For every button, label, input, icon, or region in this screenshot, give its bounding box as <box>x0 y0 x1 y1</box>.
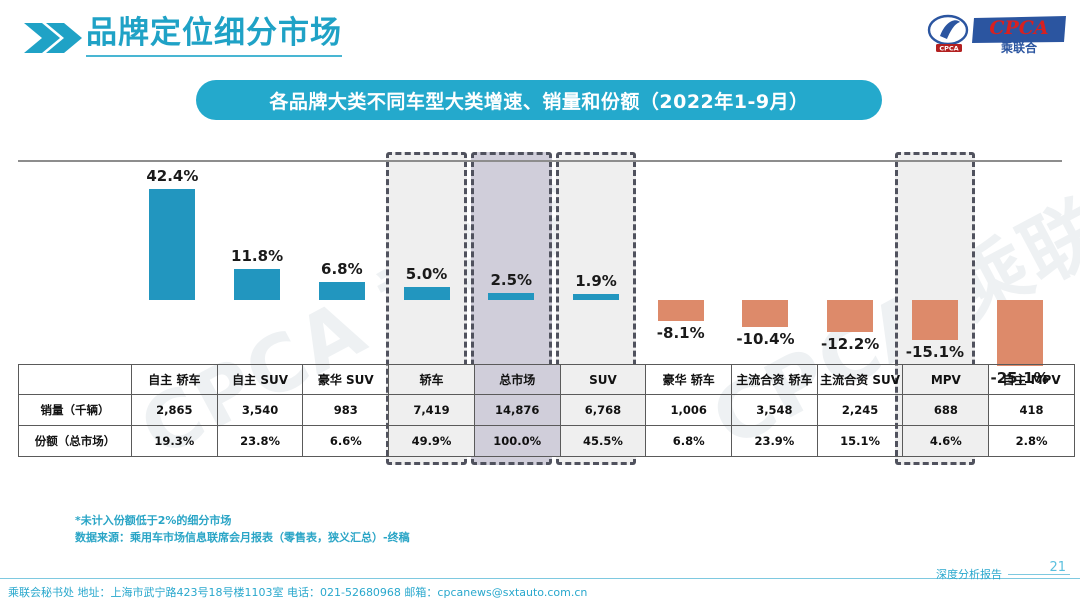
table-col-header-豪华 轿车: 豪华 轿车 <box>646 365 732 395</box>
table-cell: 49.9% <box>389 426 475 457</box>
table-cell: 983 <box>303 395 389 426</box>
table-col-header-豪华 SUV: 豪华 SUV <box>303 365 389 395</box>
bar-value-label: 6.8% <box>321 260 363 278</box>
bar-value-label: 2.5% <box>490 271 532 289</box>
bar-rect <box>149 189 195 300</box>
bar-rect <box>742 300 788 327</box>
table-cell: 6.8% <box>646 426 732 457</box>
table-cell: 2.8% <box>989 426 1075 457</box>
table-cell: 15.1% <box>817 426 903 457</box>
table-row: 销量（千辆）2,8653,5409837,41914,8766,7681,006… <box>19 395 1075 426</box>
slide-header: 品牌定位细分市场 CPCA CPCA 乘联合 <box>0 0 1080 68</box>
table-cell: 19.3% <box>132 426 218 457</box>
bar-rect <box>488 293 534 300</box>
bar-chart: 42.4%11.8%6.8%5.0%2.5%1.9%-8.1%-10.4%-12… <box>0 140 1080 370</box>
table-cell: 2,865 <box>132 395 218 426</box>
table-cell: 6.6% <box>303 426 389 457</box>
table-col-header-总市场: 总市场 <box>474 365 560 395</box>
footer-report-label: 深度分析报告 <box>936 566 1070 582</box>
table-col-header-MPV: MPV <box>903 365 989 395</box>
table-row-label: 销量（千辆） <box>19 395 132 426</box>
bar-value-label: -10.4% <box>736 330 794 348</box>
table-cell: 3,540 <box>217 395 303 426</box>
bar-rect <box>573 294 619 300</box>
table-cell: 688 <box>903 395 989 426</box>
table-corner-cell <box>19 365 132 395</box>
table-cell: 3,548 <box>732 395 818 426</box>
bar-rect <box>997 300 1043 366</box>
table-cell: 23.9% <box>732 426 818 457</box>
footer-divider <box>0 578 1080 579</box>
double-chevron-right-icon <box>22 21 84 55</box>
footnote-line-1: *未计入份额低于2%的细分市场 <box>75 512 410 529</box>
table-col-header-自主 轿车: 自主 轿车 <box>132 365 218 395</box>
bar-value-label: -8.1% <box>657 324 705 342</box>
bar-rect <box>404 287 450 300</box>
bar-自主 MPV: -25.1% <box>997 300 1043 366</box>
bar-rect <box>319 282 365 300</box>
bar-轿车: 5.0% <box>404 287 450 300</box>
table-body: 销量（千辆）2,8653,5409837,41914,8766,7681,006… <box>19 395 1075 457</box>
footer-rule-short <box>1008 574 1070 575</box>
bar-豪华 轿车: -8.1% <box>658 300 704 321</box>
table-col-header-自主 MPV: 自主 MPV <box>989 365 1075 395</box>
table-cell: 14,876 <box>474 395 560 426</box>
chart-banner-title: 各品牌大类不同车型大类增速、销量和份额（2022年1-9月） <box>196 80 882 120</box>
table-cell: 4.6% <box>903 426 989 457</box>
bar-主流合资 轿车: -10.4% <box>742 300 788 327</box>
table-col-header-轿车: 轿车 <box>389 365 475 395</box>
svg-text:乘联合: 乘联合 <box>1000 40 1038 55</box>
svg-text:CPCA: CPCA <box>989 17 1048 39</box>
cpca-logo-icon: CPCA CPCA 乘联合 <box>926 10 1066 56</box>
bar-value-label: -12.2% <box>821 335 879 353</box>
table-cell: 1,006 <box>646 395 732 426</box>
bar-总市场: 2.5% <box>488 293 534 300</box>
report-label-text: 深度分析报告 <box>936 566 1002 582</box>
bar-SUV: 1.9% <box>573 294 619 300</box>
table-cell: 6,768 <box>560 395 646 426</box>
bar-MPV: -15.1% <box>912 300 958 340</box>
page-title: 品牌定位细分市场 <box>86 16 342 57</box>
bar-rect <box>827 300 873 332</box>
bar-value-label: 1.9% <box>575 272 617 290</box>
svg-text:CPCA: CPCA <box>939 45 958 53</box>
table-header-row: 自主 轿车自主 SUV豪华 SUV轿车总市场SUV豪华 轿车主流合资 轿车主流合… <box>19 365 1075 395</box>
data-table: 自主 轿车自主 SUV豪华 SUV轿车总市场SUV豪华 轿车主流合资 轿车主流合… <box>18 364 1075 457</box>
footnote: *未计入份额低于2%的细分市场 数据来源：乘用车市场信息联席会月报表（零售表，狭… <box>75 512 410 546</box>
bar-value-label: 42.4% <box>146 167 198 185</box>
chart-baseline <box>18 160 1062 162</box>
slide-root: CPCA 乘联会 CPCA 乘联会 品牌定位细分市场 CPCA CPCA 乘联合… <box>0 0 1080 608</box>
table-col-header-自主 SUV: 自主 SUV <box>217 365 303 395</box>
table-row-label: 份额（总市场） <box>19 426 132 457</box>
footnote-line-2: 数据来源：乘用车市场信息联席会月报表（零售表，狭义汇总）-终稿 <box>75 529 410 546</box>
bar-value-label: -15.1% <box>906 343 964 361</box>
bar-rect <box>234 269 280 300</box>
table-cell: 418 <box>989 395 1075 426</box>
bar-value-label: 11.8% <box>231 247 283 265</box>
table-cell: 2,245 <box>817 395 903 426</box>
table-cell: 100.0% <box>474 426 560 457</box>
table-col-header-主流合资 轿车: 主流合资 轿车 <box>732 365 818 395</box>
table-row: 份额（总市场）19.3%23.8%6.6%49.9%100.0%45.5%6.8… <box>19 426 1075 457</box>
table-col-header-主流合资 SUV: 主流合资 SUV <box>817 365 903 395</box>
bar-value-label: 5.0% <box>406 265 448 283</box>
table-col-header-SUV: SUV <box>560 365 646 395</box>
footer-contact: 乘联会秘书处 地址：上海市武宁路423号18号楼1103室 电话：021-526… <box>8 584 587 600</box>
bar-主流合资 SUV: -12.2% <box>827 300 873 332</box>
table-cell: 7,419 <box>389 395 475 426</box>
bar-rect <box>912 300 958 340</box>
bar-rect <box>658 300 704 321</box>
bar-自主 SUV: 11.8% <box>234 269 280 300</box>
table-cell: 23.8% <box>217 426 303 457</box>
bar-豪华 SUV: 6.8% <box>319 282 365 300</box>
table-cell: 45.5% <box>560 426 646 457</box>
bar-自主 轿车: 42.4% <box>149 189 195 300</box>
